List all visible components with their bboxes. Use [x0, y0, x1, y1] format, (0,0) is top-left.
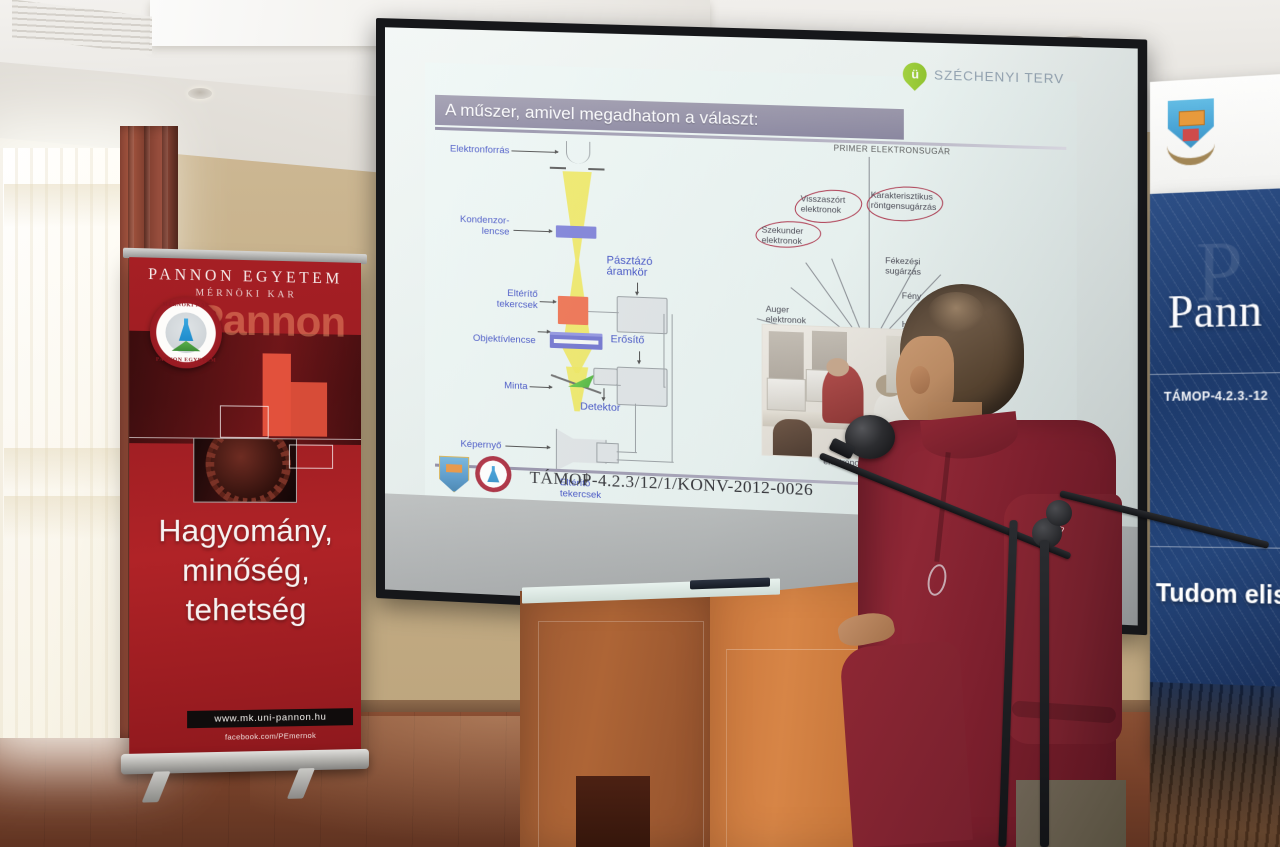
interaction-label-secondary: Szekunder elektronok — [762, 224, 822, 246]
faculty-seal-logo: MÉRNÖKI KAR PANNON EGYETEM — [150, 296, 222, 369]
interaction-label-bremsstrahlung: Fékezési sugárzás — [885, 255, 947, 278]
sem-label-condenser-lens: Kondenzor- lencse — [433, 213, 509, 238]
banner-right-slogan: Tudom elismerés a Pa — [1156, 572, 1280, 619]
aperture-plate — [550, 167, 566, 170]
crest-laurel-icon — [1167, 123, 1215, 167]
presenter: Sza Pan Mé — [836, 284, 1136, 847]
microphone-boom-joint — [1046, 500, 1072, 526]
banner-right-project-id: TÁMOP-4.2.3.-12 — [1164, 389, 1268, 404]
presenter-hair — [928, 292, 984, 332]
sem-label-scan-circuit: Pásztázó áramkör — [607, 255, 678, 280]
szechenyi-pin-icon: ü — [898, 58, 932, 91]
sem-label-amplifier: Erősítő — [611, 334, 664, 347]
ceiling-downlight — [188, 88, 212, 99]
banner-right-body: P Pann TÁMOP-4.2.3.-12 Tudom elismerés a… — [1150, 188, 1280, 761]
banner-left-slogan: Hagyomány, minőség, tehetség — [129, 511, 361, 631]
banner-left-outline-rect — [289, 444, 333, 468]
slide-title: A műszer, amivel megadhatom a választ: — [435, 100, 758, 130]
banner-left-gear-photo — [193, 438, 297, 503]
slide-title-bar: A műszer, amivel megadhatom a választ: — [435, 95, 904, 140]
gear-icon — [211, 438, 286, 502]
banner-pannon-mernoki-kar: Pannon PANNON EGYETEM MÉRNÖKI KAR MÉRNÖK… — [129, 257, 361, 804]
banner-pannon-tamop: P Pann TÁMOP-4.2.3.-12 Tudom elismerés a… — [1150, 73, 1280, 847]
sheer-curtain — [0, 148, 134, 738]
interaction-label-xray: Karakterisztikus röntgensugárzás — [871, 190, 944, 213]
banner-left-facebook: facebook.com/PEmernok — [187, 730, 353, 742]
interaction-label-auger: Auger elektronok — [766, 304, 824, 326]
microphone-stand-pole — [1040, 540, 1049, 847]
banner-left-outline-rect — [220, 405, 269, 438]
crt-neck — [596, 442, 618, 463]
seal-top-text: MÉRNÖKI KAR — [150, 301, 222, 309]
lectern-left-panel — [520, 591, 716, 847]
banner-left-foot — [287, 768, 315, 799]
banner-right-footer-image — [1150, 682, 1280, 847]
objective-lens — [550, 332, 603, 350]
condenser-lens — [556, 225, 597, 239]
air-vent-grille — [12, 0, 152, 55]
amplifier-box — [617, 367, 668, 407]
banner-left-url: www.mk.uni-pannon.hu — [214, 712, 326, 725]
sem-label-detector: Detektor — [580, 401, 637, 414]
deflection-coils — [558, 296, 588, 325]
sem-label-objective-lens: Objektívlencse — [443, 332, 536, 347]
banner-left-url-bar: www.mk.uni-pannon.hu — [187, 708, 353, 728]
university-crest-logo — [1168, 98, 1214, 159]
banner-left-header: PANNON EGYETEM — [129, 265, 361, 289]
banner-left-body: Pannon PANNON EGYETEM MÉRNÖKI KAR MÉRNÖK… — [129, 257, 361, 758]
presenter-trousers — [1016, 780, 1126, 847]
detector-box — [593, 368, 617, 386]
seal-flask-icon — [165, 312, 206, 353]
scan-generator-box — [617, 296, 668, 334]
sem-label-electron-source: Elektronforrás — [431, 143, 509, 157]
banner-left-foot — [142, 771, 171, 802]
sem-label-deflection-coils: Eltérítő tekercsek — [461, 286, 538, 311]
banner-left-accent-rect — [285, 382, 327, 437]
presenter-ear — [910, 366, 930, 394]
electron-gun-icon — [566, 141, 590, 164]
sem-column-diagram: Elektronforrás Kondenzor- lencse Pásztáz… — [437, 137, 741, 481]
presentation-photo: M ü SZÉCHENYI TERV A műszer, amivel mega… — [0, 0, 1280, 847]
presenter-arm — [839, 640, 973, 847]
szechenyi-terv-logo: ü SZÉCHENYI TERV — [903, 62, 1064, 90]
lectern-plate — [576, 776, 650, 847]
faculty-seal-icon — [475, 455, 511, 493]
interaction-label-backscattered: Visszaszórt elektronok — [801, 193, 865, 215]
banner-right-wordmark: Pann — [1168, 283, 1263, 339]
szechenyi-terv-label: SZÉCHENYI TERV — [934, 67, 1064, 86]
sem-label-display: Képernyő — [441, 438, 501, 452]
sem-label-sample: Minta — [477, 379, 527, 392]
seal-bottom-text: PANNON EGYETEM — [150, 357, 222, 364]
banner-right-header-panel — [1150, 73, 1280, 194]
aperture-plate — [588, 168, 604, 171]
university-crest-icon — [439, 456, 469, 493]
szechenyi-pin-glyph: ü — [911, 67, 919, 81]
